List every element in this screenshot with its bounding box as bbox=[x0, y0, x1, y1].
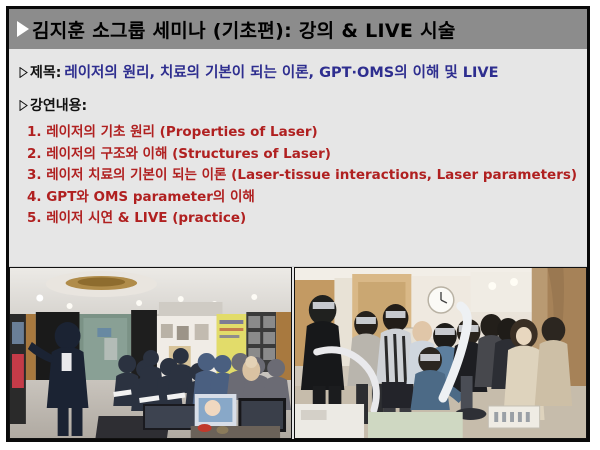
list-item: 4. GPT와 OMS parameter의 이해 bbox=[27, 187, 587, 209]
subtitle-value: 레이저의 원리, 치료의 기본이 되는 이론, GPT·OMS의 이해 및 LI… bbox=[64, 61, 498, 82]
agenda-list: 1. 레이저의 기초 원리 (Properties of Laser) 2. 레… bbox=[19, 122, 587, 230]
live-practice-photo bbox=[294, 267, 587, 439]
list-item: 5. 레이저 시연 & LIVE (practice) bbox=[27, 208, 587, 230]
slide-body: 제목: 레이저의 원리, 치료의 기본이 되는 이론, GPT·OMS의 이해 … bbox=[9, 49, 587, 266]
page-title: 김지훈 소그룹 세미나 (기초편): 강의 & LIVE 시술 bbox=[32, 16, 456, 43]
list-item: 1. 레이저의 기초 원리 (Properties of Laser) bbox=[27, 122, 587, 144]
list-item: 3. 레이저 치료의 기본이 되는 이론 (Laser-tissue inter… bbox=[27, 165, 587, 187]
slide-frame: 김지훈 소그룹 세미나 (기초편): 강의 & LIVE 시술 제목: 레이저의… bbox=[6, 6, 590, 442]
slide-canvas: 김지훈 소그룹 세미나 (기초편): 강의 & LIVE 시술 제목: 레이저의… bbox=[0, 0, 600, 450]
outline-triangle-right-icon bbox=[19, 100, 28, 111]
section-label: 강연내용: bbox=[30, 95, 87, 115]
outline-triangle-right-icon bbox=[19, 67, 28, 78]
lecture-photo bbox=[9, 267, 292, 439]
subtitle-label: 제목: bbox=[30, 62, 61, 82]
list-item: 2. 레이저의 구조와 이해 (Structures of Laser) bbox=[27, 144, 587, 166]
solid-triangle-right-icon bbox=[17, 21, 29, 37]
slide-title-bar: 김지훈 소그룹 세미나 (기초편): 강의 & LIVE 시술 bbox=[9, 9, 587, 49]
section-row: 강연내용: bbox=[19, 95, 587, 115]
subtitle-row: 제목: 레이저의 원리, 치료의 기본이 되는 이론, GPT·OMS의 이해 … bbox=[19, 61, 587, 82]
photo-row bbox=[9, 266, 587, 439]
